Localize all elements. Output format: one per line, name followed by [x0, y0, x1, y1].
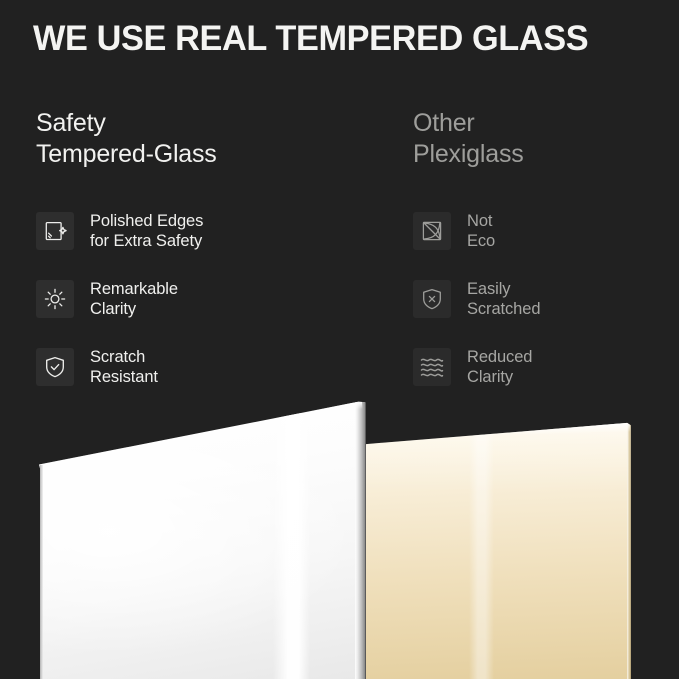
feature-label: Reduced Clarity — [467, 347, 532, 387]
feature-label: Scratch Resistant — [90, 347, 158, 387]
plexiglass-reflection — [469, 427, 493, 679]
feature-label-line2: Resistant — [90, 367, 158, 387]
column-plexiglass: Other Plexiglass Not Eco — [413, 108, 679, 170]
feature-label-line1: Scratch — [90, 348, 145, 366]
crossed-leaf-not-eco-icon — [413, 212, 451, 250]
shield-x-icon — [413, 280, 451, 318]
feature-label-line1: Remarkable — [90, 280, 178, 298]
shield-check-icon — [36, 348, 74, 386]
feature-label: Polished Edges for Extra Safety — [90, 211, 203, 251]
feature-row: Remarkable Clarity — [36, 280, 386, 318]
glass-right-edge — [355, 402, 366, 679]
product-photo — [0, 396, 679, 679]
feature-list-right: Not Eco Easily Scratched — [413, 212, 679, 416]
column-title-right-line1: Other — [413, 109, 475, 137]
column-title-left: Safety Tempered-Glass — [36, 108, 386, 170]
product-comparison-infographic: WE USE REAL TEMPERED GLASS Safety Temper… — [0, 0, 679, 679]
plexiglass-top-edge — [366, 423, 630, 439]
feature-label-line1: Reduced — [467, 348, 532, 366]
column-tempered-glass: Safety Tempered-Glass Polished Edges for… — [36, 108, 386, 170]
feature-label-line2: Clarity — [467, 367, 532, 387]
plexiglass-right-edge — [627, 423, 631, 679]
feature-label-line2: Eco — [467, 231, 495, 251]
glass-reflection — [273, 413, 310, 679]
polished-edge-sparkle-icon — [36, 212, 74, 250]
glass-left-edge — [40, 465, 44, 679]
feature-row: Easily Scratched — [413, 280, 679, 318]
wavy-distortion-icon — [413, 348, 451, 386]
feature-row: Scratch Resistant — [36, 348, 386, 386]
feature-list-left: Polished Edges for Extra Safety — [36, 212, 386, 416]
feature-row: Polished Edges for Extra Safety — [36, 212, 386, 250]
feature-label-line1: Not — [467, 212, 492, 230]
feature-label-line2: Scratched — [467, 299, 540, 319]
feature-label-line2: for Extra Safety — [90, 231, 203, 251]
feature-label: Remarkable Clarity — [90, 279, 178, 319]
feature-label: Easily Scratched — [467, 279, 540, 319]
column-title-right-line2: Plexiglass — [413, 139, 679, 170]
sun-clarity-icon — [36, 280, 74, 318]
feature-row: Reduced Clarity — [413, 348, 679, 386]
glass-top-edge — [40, 402, 362, 432]
feature-row: Not Eco — [413, 212, 679, 250]
tempered-glass-panel — [36, 396, 372, 679]
column-title-left-line1: Safety — [36, 109, 106, 137]
feature-label-line2: Clarity — [90, 299, 178, 319]
plexiglass-panel — [366, 396, 638, 679]
feature-label-line1: Easily — [467, 280, 510, 298]
column-title-right: Other Plexiglass — [413, 108, 679, 170]
column-title-left-line2: Tempered-Glass — [36, 139, 386, 170]
feature-label-line1: Polished Edges — [90, 212, 203, 230]
feature-label: Not Eco — [467, 211, 495, 251]
page-title: WE USE REAL TEMPERED GLASS — [33, 18, 650, 60]
